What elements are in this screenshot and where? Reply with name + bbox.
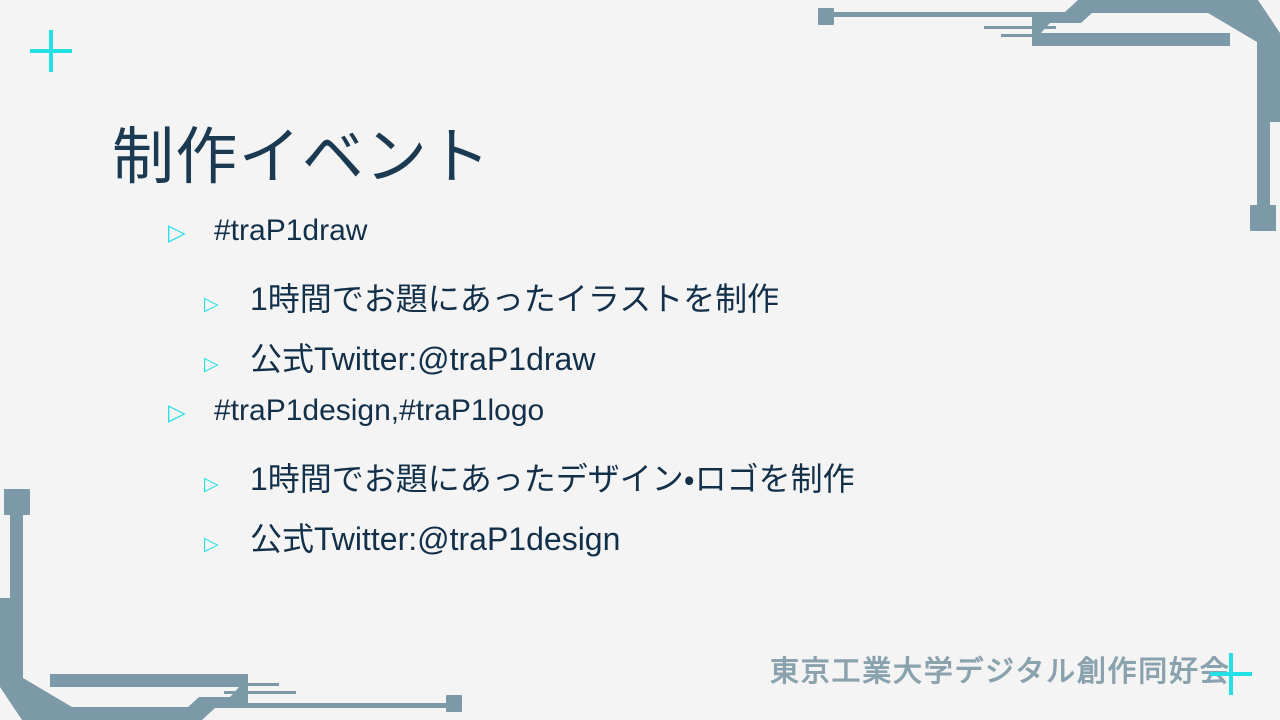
list-item: ▷ 公式Twitter:@traP1design: [204, 514, 1168, 574]
plus-icon-vertical-bar: [49, 30, 53, 72]
list-item: ▷ 公式Twitter:@traP1draw: [204, 334, 1168, 394]
list-item-label: #traP1draw: [214, 214, 367, 248]
page-title: 制作イベント: [112, 122, 491, 193]
list-item-label: 1時間でお題にあったデザイン・ロゴを制作: [250, 454, 855, 500]
triangle-right-icon: ▷: [204, 355, 228, 374]
list-item: ▷ #traP1design,#traP1logo: [168, 394, 1168, 454]
list-item: ▷ 1時間でお題にあったデザイン・ロゴを制作: [204, 454, 1168, 514]
bullet-list: ▷ #traP1draw ▷ 1時間でお題にあったイラストを制作 ▷ 公式Twi…: [168, 214, 1168, 574]
triangle-right-icon: ▷: [204, 535, 228, 554]
triangle-right-icon: ▷: [204, 475, 228, 494]
list-item: ▷ 1時間でお題にあったイラストを制作: [204, 274, 1168, 334]
list-item-label: 1時間でお題にあったイラストを制作: [250, 274, 779, 320]
plus-icon: [1210, 653, 1252, 695]
plus-icon-vertical-bar: [1229, 653, 1233, 695]
plus-icon: [30, 30, 72, 72]
triangle-right-icon: ▷: [168, 221, 194, 244]
triangle-right-icon: ▷: [204, 295, 228, 314]
list-item: ▷ #traP1draw: [168, 214, 1168, 274]
triangle-right-icon: ▷: [168, 401, 194, 424]
list-item-label: #traP1design,#traP1logo: [214, 394, 544, 428]
footer-organization-logo: 東京工業大学デジタル創作同好会: [770, 648, 1231, 690]
list-item-label: 公式Twitter:@traP1draw: [250, 334, 595, 380]
slide-canvas: 制作イベント ▷ #traP1draw ▷ 1時間でお題にあったイラストを制作 …: [0, 0, 1280, 720]
list-item-label: 公式Twitter:@traP1design: [250, 514, 620, 560]
